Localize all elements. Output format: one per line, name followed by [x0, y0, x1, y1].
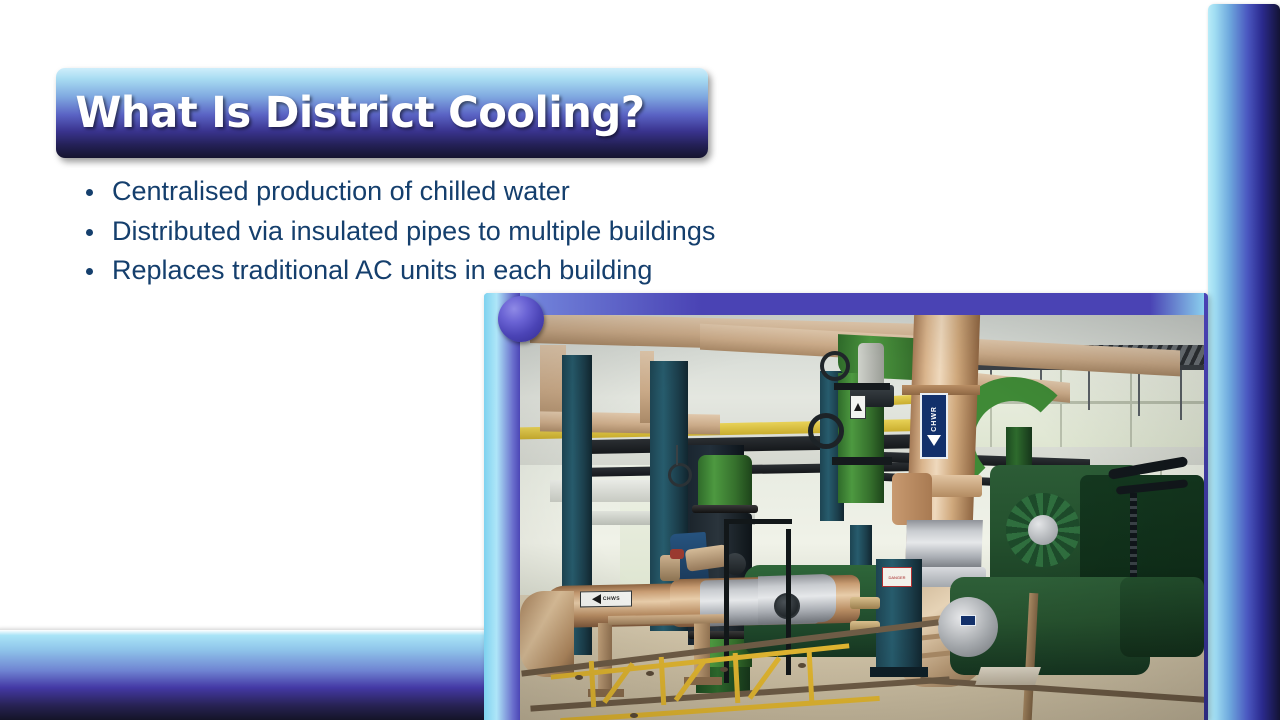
- slide-canvas: What Is District Cooling? Centralised pr…: [0, 0, 1280, 720]
- list-item-label: Distributed via insulated pipes to multi…: [112, 216, 715, 246]
- bottom-accent-bar: [0, 630, 495, 720]
- right-accent-bar: [1208, 4, 1280, 720]
- frame-left-border: [484, 293, 520, 720]
- frame-top-border: [484, 293, 1208, 315]
- photo-vignette: [520, 315, 1204, 720]
- list-item: Centralised production of chilled water: [80, 172, 920, 212]
- plant-photo: CHWR: [520, 315, 1204, 720]
- list-item-label: Replaces traditional AC units in each bu…: [112, 255, 652, 285]
- list-item: Distributed via insulated pipes to multi…: [80, 212, 920, 252]
- frame-corner-badge-icon: [498, 296, 544, 342]
- list-item-label: Centralised production of chilled water: [112, 176, 570, 206]
- frame-right-border: [1204, 293, 1208, 720]
- bullet-list: Centralised production of chilled water …: [80, 172, 920, 291]
- title-plaque: What Is District Cooling?: [56, 68, 708, 158]
- bullet-dot-icon: [86, 268, 93, 275]
- bullet-dot-icon: [86, 189, 93, 196]
- photo-frame: CHWR: [484, 293, 1208, 720]
- page-title: What Is District Cooling?: [56, 88, 644, 138]
- bullet-dot-icon: [86, 229, 93, 236]
- list-item: Replaces traditional AC units in each bu…: [80, 251, 920, 291]
